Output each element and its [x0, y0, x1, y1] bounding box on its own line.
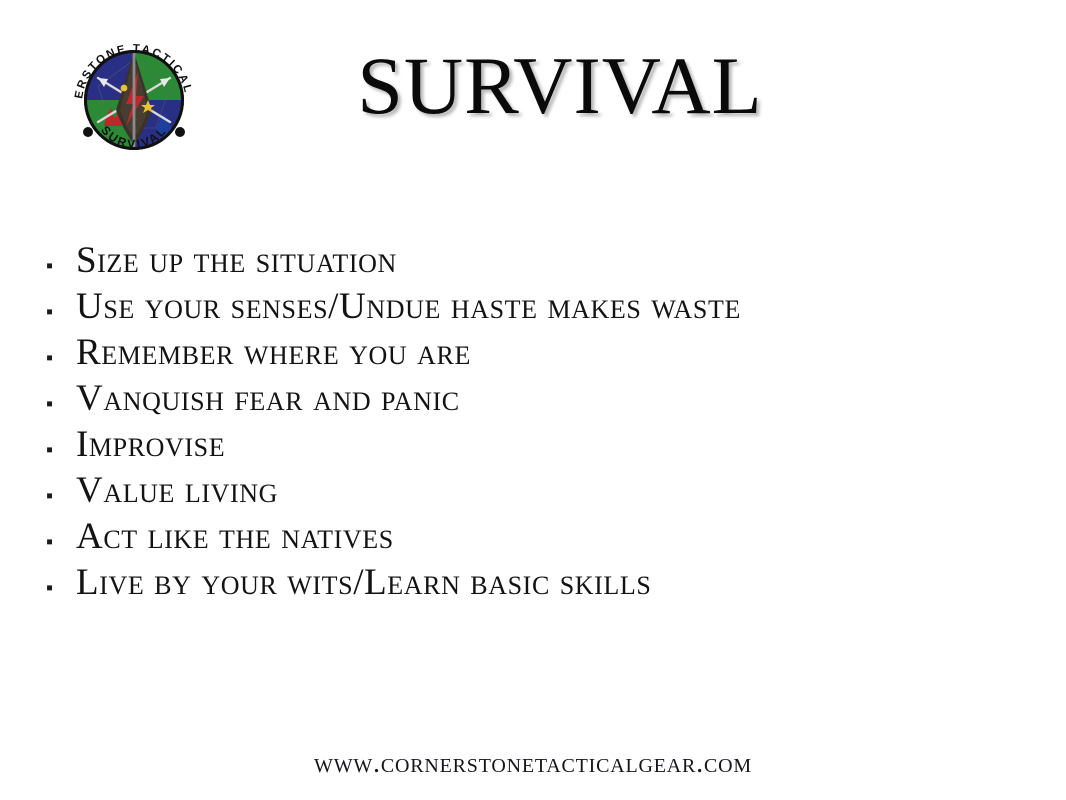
list-item: ▪ Vanquish fear and panic — [44, 376, 1044, 422]
presentation-slide: CORNERSTONE TACTICAL GEAR SURVIVAL SURVI… — [0, 0, 1066, 800]
list-item-label: Value living — [76, 468, 278, 514]
list-item-label: Remember where you are — [76, 330, 471, 376]
list-item-label: Use your senses/Undue haste makes waste — [76, 284, 741, 330]
list-item-label: Vanquish fear and panic — [76, 376, 460, 422]
bullet-marker-icon: ▪ — [44, 289, 76, 335]
list-item-label: Act like the natives — [76, 514, 394, 560]
list-item-label: Size up the situation — [76, 238, 397, 284]
footer-website-url: www.cornerstonetacticalgear.com — [0, 748, 1066, 780]
list-item: ▪ Improvise — [44, 422, 1044, 468]
list-item: ▪ Size up the situation — [44, 238, 1044, 284]
logo-dot-left — [83, 127, 93, 137]
bullet-marker-icon: ▪ — [44, 243, 76, 289]
bullet-marker-icon: ▪ — [44, 335, 76, 381]
list-item: ▪ Use your senses/Undue haste makes wast… — [44, 284, 1044, 330]
bullet-marker-icon: ▪ — [44, 381, 76, 427]
bullet-marker-icon: ▪ — [44, 565, 76, 611]
cornerstone-tactical-gear-logo: CORNERSTONE TACTICAL GEAR SURVIVAL — [60, 26, 208, 174]
page-title: SURVIVAL — [250, 38, 870, 134]
bullet-marker-icon: ▪ — [44, 519, 76, 565]
list-item: ▪ Live by your wits/Learn basic skills — [44, 560, 1044, 606]
list-item: ▪ Value living — [44, 468, 1044, 514]
survival-acronym-list: ▪ Size up the situation ▪ Use your sense… — [44, 238, 1044, 606]
list-item: ▪ Remember where you are — [44, 330, 1044, 376]
logo-dot-right — [175, 127, 185, 137]
bullet-marker-icon: ▪ — [44, 473, 76, 519]
bullet-marker-icon: ▪ — [44, 427, 76, 473]
list-item: ▪ Act like the natives — [44, 514, 1044, 560]
list-item-label: Improvise — [76, 422, 225, 468]
list-item-label: Live by your wits/Learn basic skills — [76, 560, 651, 606]
